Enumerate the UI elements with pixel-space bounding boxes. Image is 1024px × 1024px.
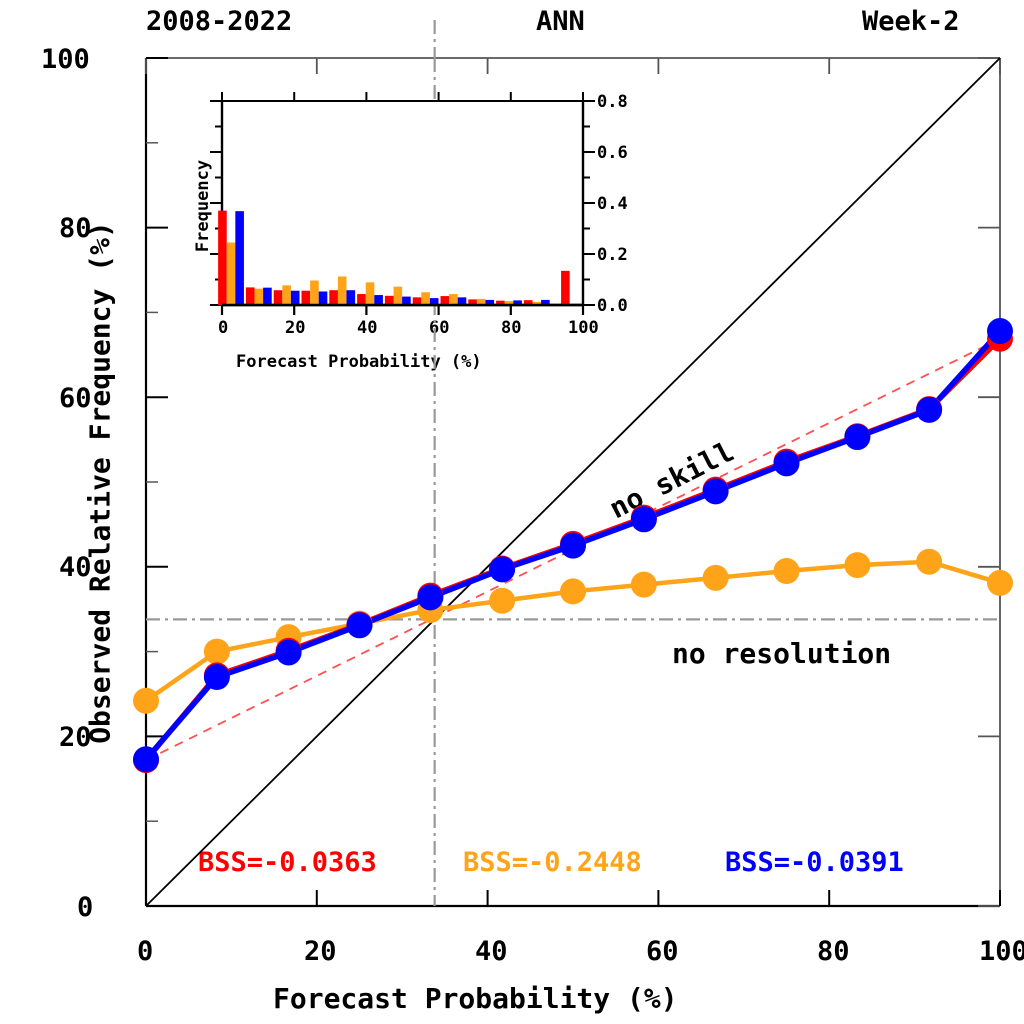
inset-bar-orange: [421, 292, 430, 305]
series-marker-blue[interactable]: [703, 478, 729, 504]
inset-bar-red: [357, 294, 366, 305]
inset-background: [222, 101, 583, 305]
inset-bar-red: [274, 290, 283, 305]
series-marker-orange[interactable]: [916, 549, 942, 575]
inset-bar-blue: [263, 288, 272, 305]
inset-bar-orange: [310, 281, 319, 305]
plot-canvas: [0, 0, 1024, 1024]
series-marker-blue[interactable]: [204, 664, 230, 690]
series-marker-blue[interactable]: [417, 584, 443, 610]
inset-bar-blue: [235, 211, 244, 305]
series-marker-blue[interactable]: [774, 450, 800, 476]
series-marker-orange[interactable]: [204, 639, 230, 665]
inset-bar-orange: [338, 276, 347, 305]
inset-bar-red: [246, 287, 255, 305]
reliability-diagram-figure: 2008-2022 ANN Week-2 Observed Relative F…: [0, 0, 1024, 1024]
series-marker-blue[interactable]: [916, 397, 942, 423]
inset-bar-red: [441, 296, 450, 305]
inset-bar-orange: [255, 289, 264, 305]
inset-bar-orange: [449, 294, 458, 305]
inset-bar-orange: [227, 243, 236, 305]
series-marker-blue[interactable]: [489, 556, 515, 582]
series-marker-orange[interactable]: [489, 588, 515, 614]
series-marker-blue[interactable]: [276, 639, 302, 665]
inset-bar-blue: [402, 297, 411, 305]
inset-bar-orange: [366, 282, 375, 305]
inset-bar-red: [561, 271, 570, 305]
series-marker-orange[interactable]: [987, 570, 1013, 596]
series-marker-blue[interactable]: [631, 506, 657, 532]
series-marker-orange[interactable]: [774, 558, 800, 584]
series-marker-orange[interactable]: [133, 688, 159, 714]
series-marker-blue[interactable]: [987, 318, 1013, 344]
inset-bar-red: [385, 296, 394, 305]
series-marker-orange[interactable]: [631, 572, 657, 598]
inset-bar-blue: [291, 291, 300, 305]
inset-bar-red: [218, 211, 227, 305]
inset-bar-red: [302, 291, 311, 305]
series-marker-blue[interactable]: [133, 746, 159, 772]
series-marker-blue[interactable]: [844, 424, 870, 450]
inset-bar-red: [329, 290, 338, 305]
inset-bar-blue: [347, 290, 356, 305]
series-marker-orange[interactable]: [844, 552, 870, 578]
series-marker-blue[interactable]: [560, 533, 586, 559]
inset-bar-orange: [282, 285, 291, 305]
series-marker-orange[interactable]: [703, 565, 729, 591]
series-marker-orange[interactable]: [560, 578, 586, 604]
inset-bar-orange: [394, 287, 403, 305]
inset-bar-blue: [319, 291, 328, 305]
inset-bar-blue: [374, 295, 383, 305]
series-marker-blue[interactable]: [347, 612, 373, 638]
